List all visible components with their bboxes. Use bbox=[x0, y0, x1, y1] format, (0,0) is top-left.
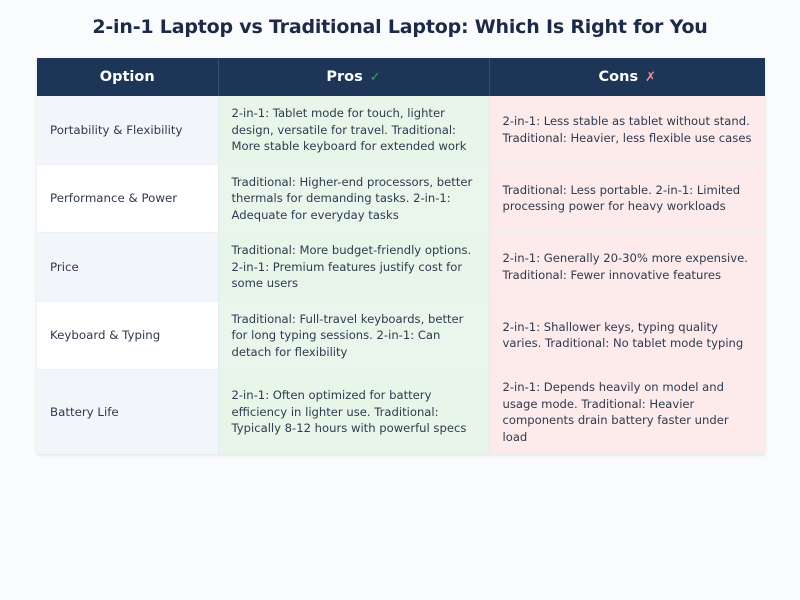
page-title: 2-in-1 Laptop vs Traditional Laptop: Whi… bbox=[0, 0, 800, 40]
cell-pros: 2-in-1: Tablet mode for touch, lighter d… bbox=[218, 96, 489, 164]
table-row: Price Traditional: More budget-friendly … bbox=[37, 233, 765, 302]
cell-option: Price bbox=[37, 233, 218, 302]
cell-cons: 2-in-1: Depends heavily on model and usa… bbox=[489, 370, 765, 455]
table-header-row: Option Pros✓ Cons✗ bbox=[37, 58, 765, 96]
column-header-cons-label: Cons bbox=[599, 69, 639, 85]
column-header-cons[interactable]: Cons✗ bbox=[489, 58, 765, 96]
page-root: 2-in-1 Laptop vs Traditional Laptop: Whi… bbox=[0, 0, 800, 600]
cross-icon: ✗ bbox=[645, 70, 656, 85]
column-header-pros[interactable]: Pros✓ bbox=[218, 58, 489, 96]
cell-pros: Traditional: Higher-end processors, bett… bbox=[218, 164, 489, 233]
column-header-pros-label: Pros bbox=[326, 69, 362, 85]
table-row: Portability & Flexibility 2-in-1: Tablet… bbox=[37, 96, 765, 164]
table-row: Keyboard & Typing Traditional: Full-trav… bbox=[37, 301, 765, 370]
check-icon: ✓ bbox=[370, 70, 381, 85]
column-header-option[interactable]: Option bbox=[37, 58, 218, 96]
cell-pros: 2-in-1: Often optimized for battery effi… bbox=[218, 370, 489, 455]
cell-pros: Traditional: Full-travel keyboards, bett… bbox=[218, 301, 489, 370]
cell-cons: 2-in-1: Less stable as tablet without st… bbox=[489, 96, 765, 164]
table-header: Option Pros✓ Cons✗ bbox=[37, 58, 765, 96]
cell-option: Battery Life bbox=[37, 370, 218, 455]
column-header-option-label: Option bbox=[100, 69, 155, 85]
cell-cons: 2-in-1: Shallower keys, typing quality v… bbox=[489, 301, 765, 370]
cell-option: Performance & Power bbox=[37, 164, 218, 233]
table-row: Battery Life 2-in-1: Often optimized for… bbox=[37, 370, 765, 455]
comparison-table: Option Pros✓ Cons✗ Portability & Flexibi… bbox=[37, 58, 765, 454]
table-row: Performance & Power Traditional: Higher-… bbox=[37, 164, 765, 233]
cell-option: Portability & Flexibility bbox=[37, 96, 218, 164]
cell-pros: Traditional: More budget-friendly option… bbox=[218, 233, 489, 302]
cell-cons: 2-in-1: Generally 20-30% more expensive.… bbox=[489, 233, 765, 302]
comparison-table-container: Option Pros✓ Cons✗ Portability & Flexibi… bbox=[37, 58, 765, 454]
cell-option: Keyboard & Typing bbox=[37, 301, 218, 370]
cell-cons: Traditional: Less portable. 2-in-1: Limi… bbox=[489, 164, 765, 233]
table-body: Portability & Flexibility 2-in-1: Tablet… bbox=[37, 96, 765, 454]
